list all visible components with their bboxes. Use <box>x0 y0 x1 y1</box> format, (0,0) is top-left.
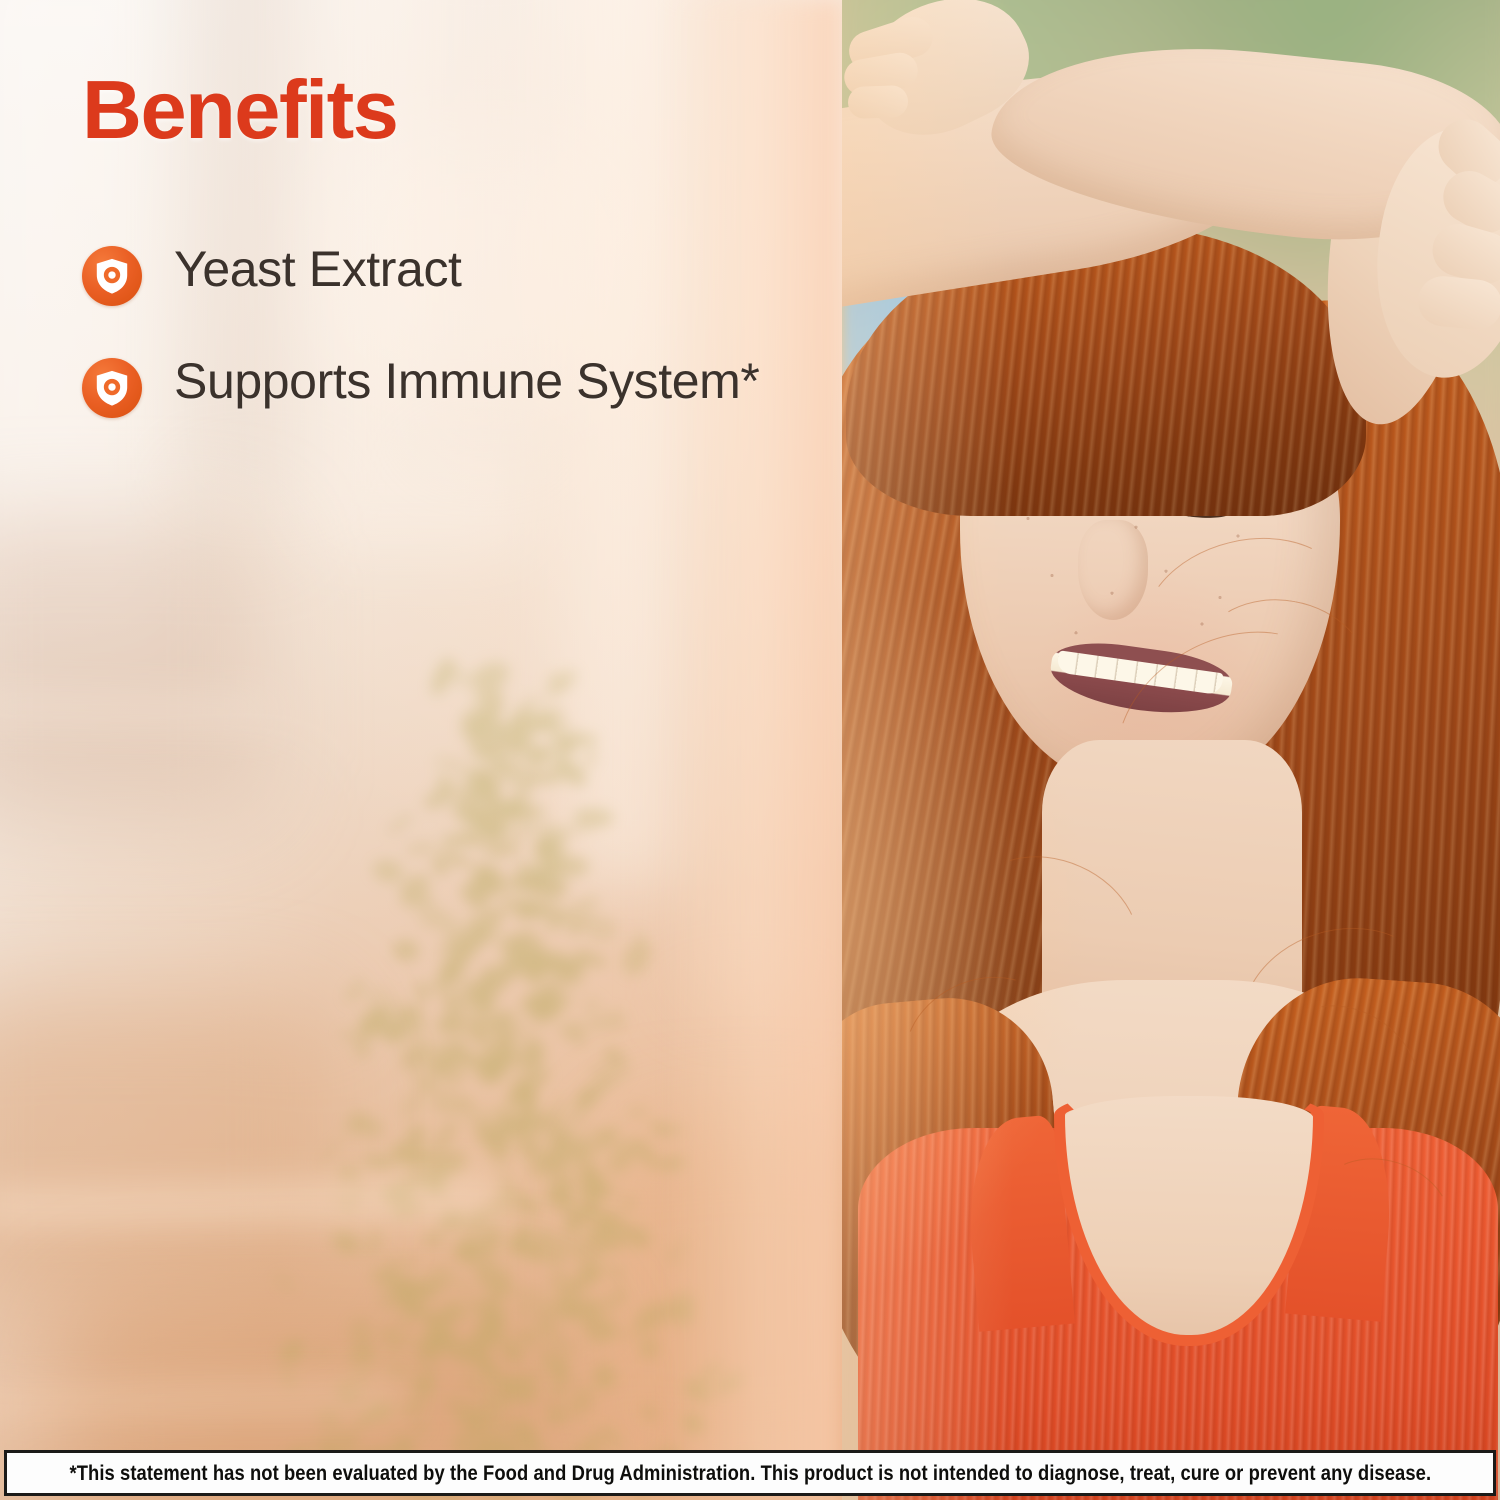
list-item-label: Supports Immune System* <box>174 352 759 411</box>
shield-check-icon <box>82 358 142 418</box>
finger <box>847 85 908 119</box>
disclaimer-text: *This statement has not been evaluated b… <box>69 1461 1431 1486</box>
lifestyle-photo <box>842 0 1500 1500</box>
benefits-list: Yeast Extract Supports Immune System* <box>82 240 782 464</box>
list-item: Supports Immune System* <box>82 352 782 418</box>
shield-check-icon <box>82 246 142 306</box>
content-overlay: Benefits Yeast Extract <box>0 0 842 1448</box>
marketing-image-canvas: Benefits Yeast Extract <box>0 0 1500 1500</box>
list-item: Yeast Extract <box>82 240 782 306</box>
page-title: Benefits <box>82 62 397 158</box>
disclaimer-bar: *This statement has not been evaluated b… <box>4 1450 1496 1496</box>
list-item-label: Yeast Extract <box>174 240 462 299</box>
